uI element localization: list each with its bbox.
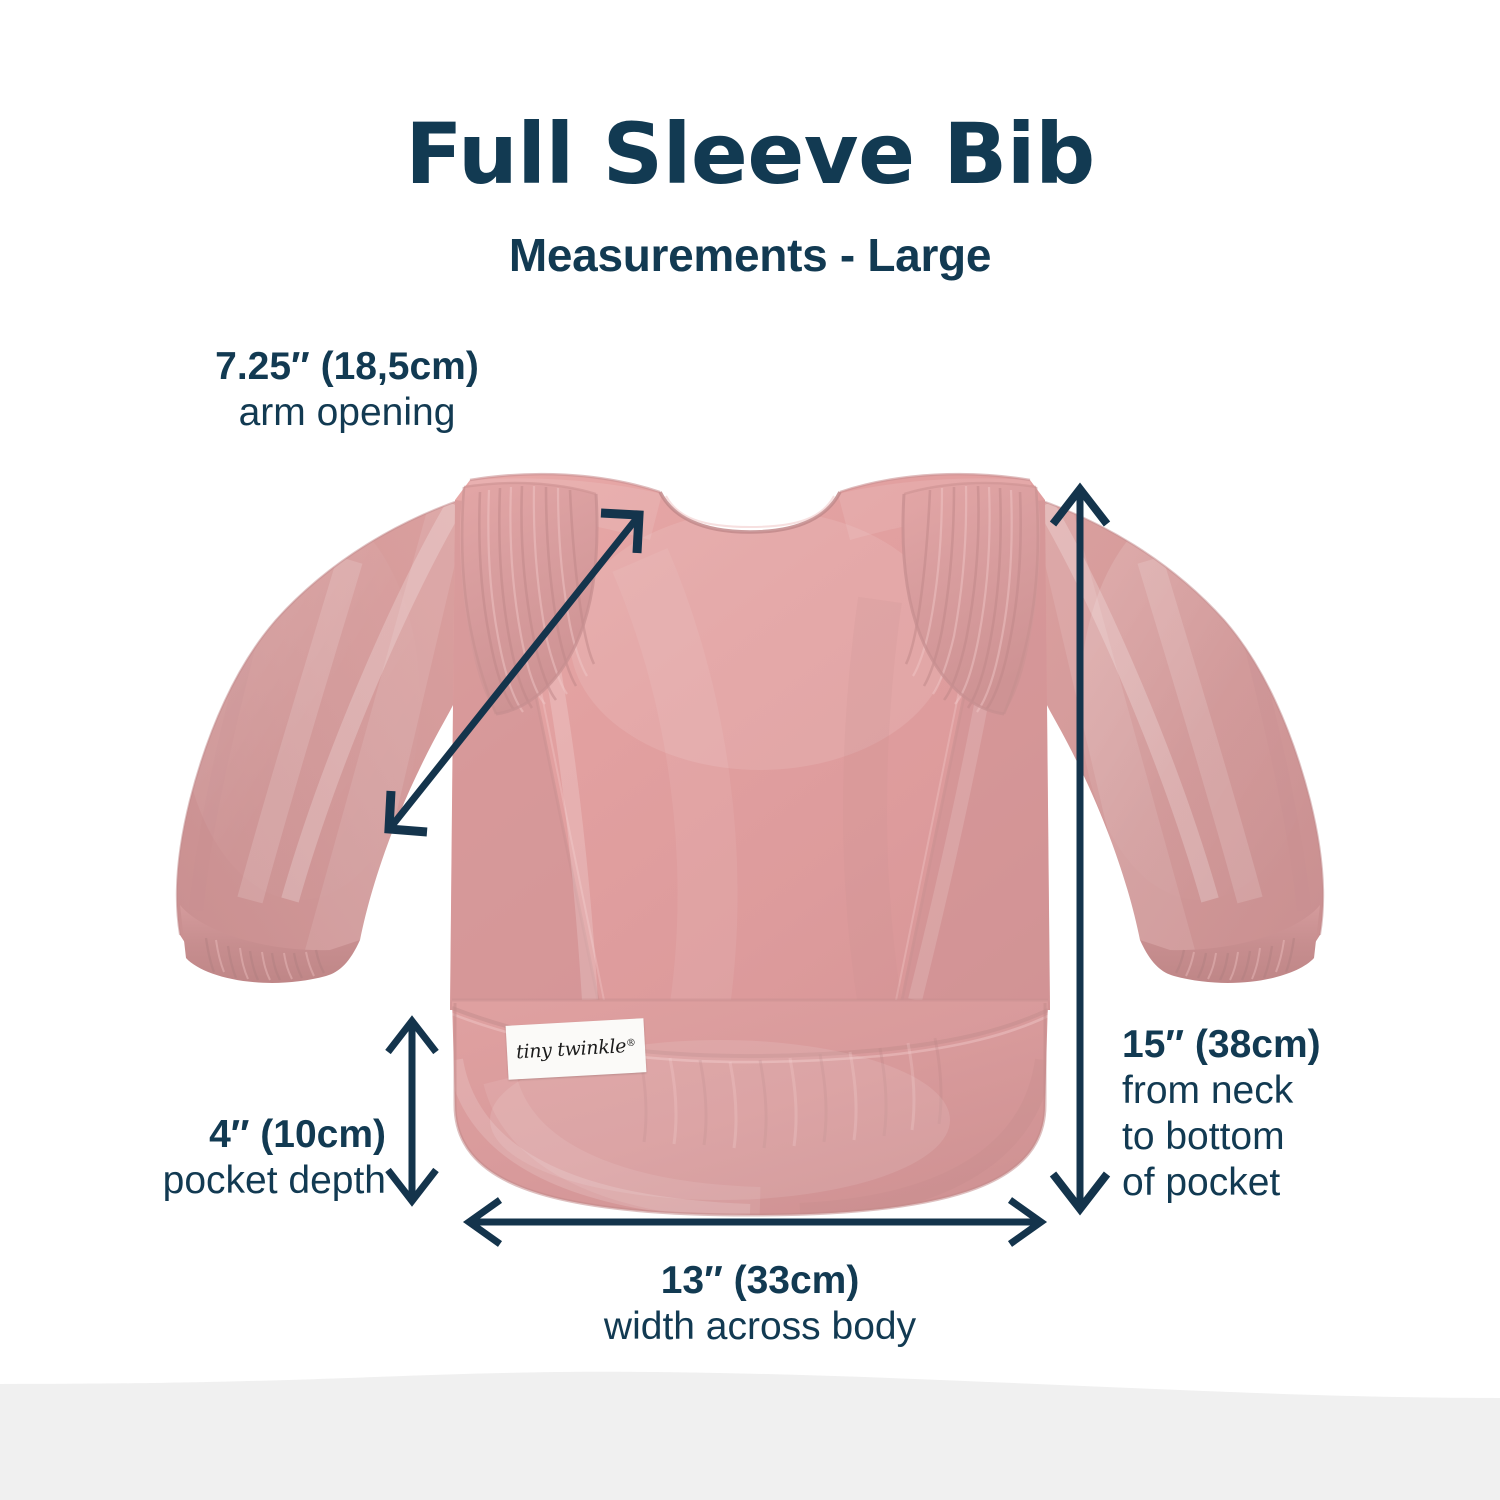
pocket-depth-description: pocket depth — [108, 1158, 386, 1204]
neck-to-pocket-description-line-1: from neck — [1122, 1068, 1452, 1114]
neck-to-pocket-description-line-3: of pocket — [1122, 1160, 1452, 1206]
neck-to-pocket-value: 15″ (38cm) — [1122, 1022, 1452, 1068]
neck-to-pocket-description-line-2: to bottom — [1122, 1114, 1452, 1160]
pocket-depth-arrow-icon — [388, 1021, 436, 1201]
arm-opening-arrow-icon — [389, 513, 639, 832]
pocket-depth-value: 4″ (10cm) — [108, 1112, 386, 1158]
product-measurement-diagram: Full Sleeve Bib Measurements - Large — [0, 0, 1500, 1500]
arm-opening-description: arm opening — [212, 390, 482, 436]
pocket-depth-callout: 4″ (10cm) pocket depth — [108, 1112, 386, 1204]
width-across-body-arrow-icon — [469, 1200, 1041, 1244]
neck-to-pocket-callout: 15″ (38cm) from neck to bottom of pocket — [1122, 1022, 1452, 1206]
width-across-body-value: 13″ (33cm) — [480, 1258, 1040, 1304]
arm-opening-value: 7.25″ (18,5cm) — [212, 344, 482, 390]
width-across-body-description: width across body — [480, 1304, 1040, 1350]
width-across-body-callout: 13″ (33cm) width across body — [480, 1258, 1040, 1350]
neck-to-pocket-arrow-icon — [1053, 489, 1107, 1209]
arm-opening-callout: 7.25″ (18,5cm) arm opening — [212, 344, 482, 436]
